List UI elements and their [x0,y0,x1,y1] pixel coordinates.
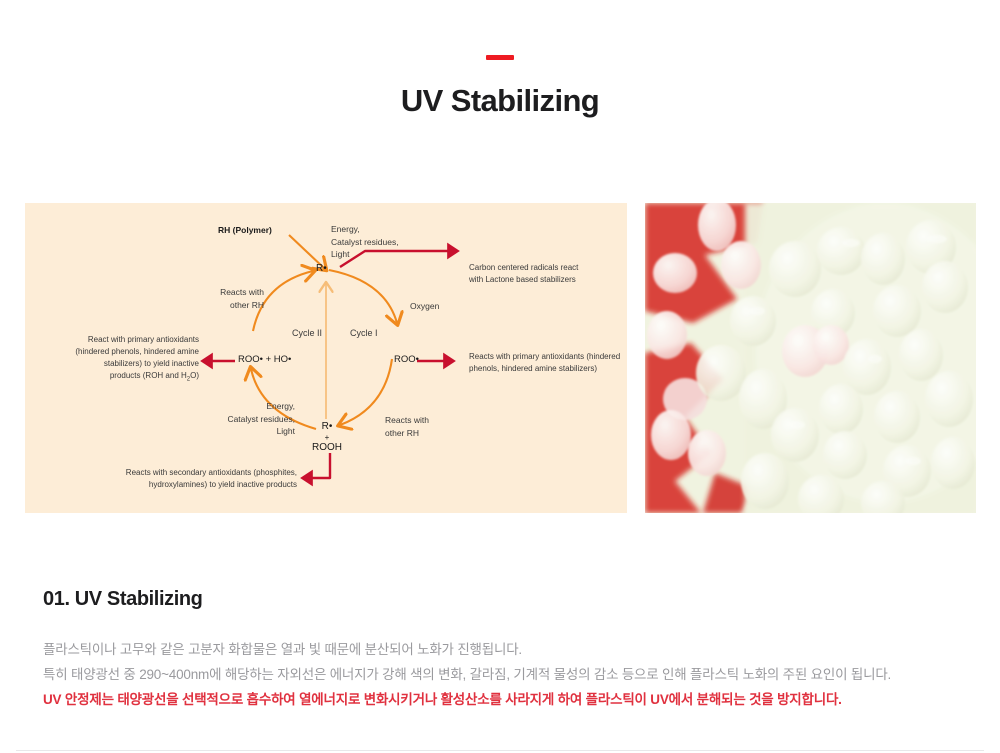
node-roo-ho: ROO• + HO• [238,354,291,365]
body-paragraph-3-highlight: UV 안정제는 태양광선을 선택적으로 흡수하여 열에너지로 변화시키거나 활성… [43,687,983,712]
body-paragraph-1: 플라스틱이나 고무와 같은 고분자 화합물은 열과 빛 때문에 분산되어 노화가… [43,637,983,662]
cycle1-arc-r-to-roo [329,270,397,323]
note-primary-left-line3: stabilizers) to yield inactive [43,358,199,370]
node-rooh: ROOH [301,443,353,454]
label-cycle-two: Cycle II [292,328,322,338]
note-primary-left-line4-c: O) [190,371,199,380]
page-title: UV Stabilizing [0,84,1000,118]
label-oxygen: Oxygen [410,301,439,311]
note-secondary-line2: hydroxylamines) to yield inactive produc… [87,479,297,491]
node-r-radical-bottom: R• [301,422,353,433]
label-energy-top-line3: Light [331,248,399,261]
note-lactone-stabilizers: Carbon centered radicals react with Lact… [469,262,627,286]
note-primary-antioxidants-right: Reacts with primary antioxidants (hinder… [469,351,627,375]
label-reacts-other-rh-right: Reacts with other RH [385,414,429,440]
uv-degradation-cycle-diagram: RH (Polymer) Energy, Catalyst residues, … [25,203,627,513]
note-primary-left-line4: products (ROH and H2O) [43,370,199,386]
label-energy-bottom: Energy, Catalyst residues, Light [203,400,295,438]
note-primary-left-line2: (hindered phenols, hindered amine [43,346,199,358]
label-reacts-other-rh-right-line2: other RH [385,427,429,440]
pellets-illustration [645,203,976,513]
page-header: UV Stabilizing [0,0,1000,118]
note-lactone-line2: with Lactone based stabilizers [469,274,627,286]
label-reacts-other-rh-left-line2: other RH [192,299,264,312]
note-lactone-line1: Carbon centered radicals react [469,262,627,274]
label-energy-bottom-line2: Catalyst residues, [203,413,295,426]
node-r-radical-top: R• [316,263,327,274]
label-energy-bottom-line1: Energy, [203,400,295,413]
label-energy-top: Energy, Catalyst residues, Light [331,223,399,261]
label-energy-top-line1: Energy, [331,223,399,236]
note-secondary-line1: Reacts with secondary antioxidants (phos… [87,467,297,479]
note-primary-left-line4-a: products (ROH and H [110,371,187,380]
footer-divider [16,750,984,751]
body-paragraph-2: 특히 태양광선 중 290~400nm에 해당하는 자외선은 에너지가 강해 색… [43,662,983,687]
label-rh-polymer: RH (Polymer) [218,225,272,235]
node-r-radical-rooh: R• + ROOH [301,422,353,454]
node-roo-right: ROO• [394,354,419,365]
media-row: RH (Polymer) Energy, Catalyst residues, … [25,203,974,513]
note-primary-left-line1: React with primary antioxidants [43,334,199,346]
arrow-to-secondary-antioxidants [303,453,330,478]
content-block: 01. UV Stabilizing 플라스틱이나 고무와 같은 고분자 화합물… [43,588,983,712]
plastic-pellets-photo [645,203,976,513]
label-reacts-other-rh-right-line1: Reacts with [385,414,429,427]
label-cycle-one: Cycle I [350,328,378,338]
note-primary-right-line2: phenols, hindered amine stabilizers) [469,363,627,375]
label-reacts-other-rh-left-line1: Reacts with [192,286,264,299]
label-energy-top-line2: Catalyst residues, [331,236,399,249]
accent-bar-icon [486,55,514,60]
section-heading: 01. UV Stabilizing [43,588,983,611]
label-energy-bottom-line3: Light [203,425,295,438]
note-secondary-antioxidants: Reacts with secondary antioxidants (phos… [87,467,297,491]
label-reacts-other-rh-left: Reacts with other RH [192,286,264,312]
note-primary-right-line1: Reacts with primary antioxidants (hinder… [469,351,627,363]
note-primary-antioxidants-left: React with primary antioxidants (hindere… [43,334,199,386]
